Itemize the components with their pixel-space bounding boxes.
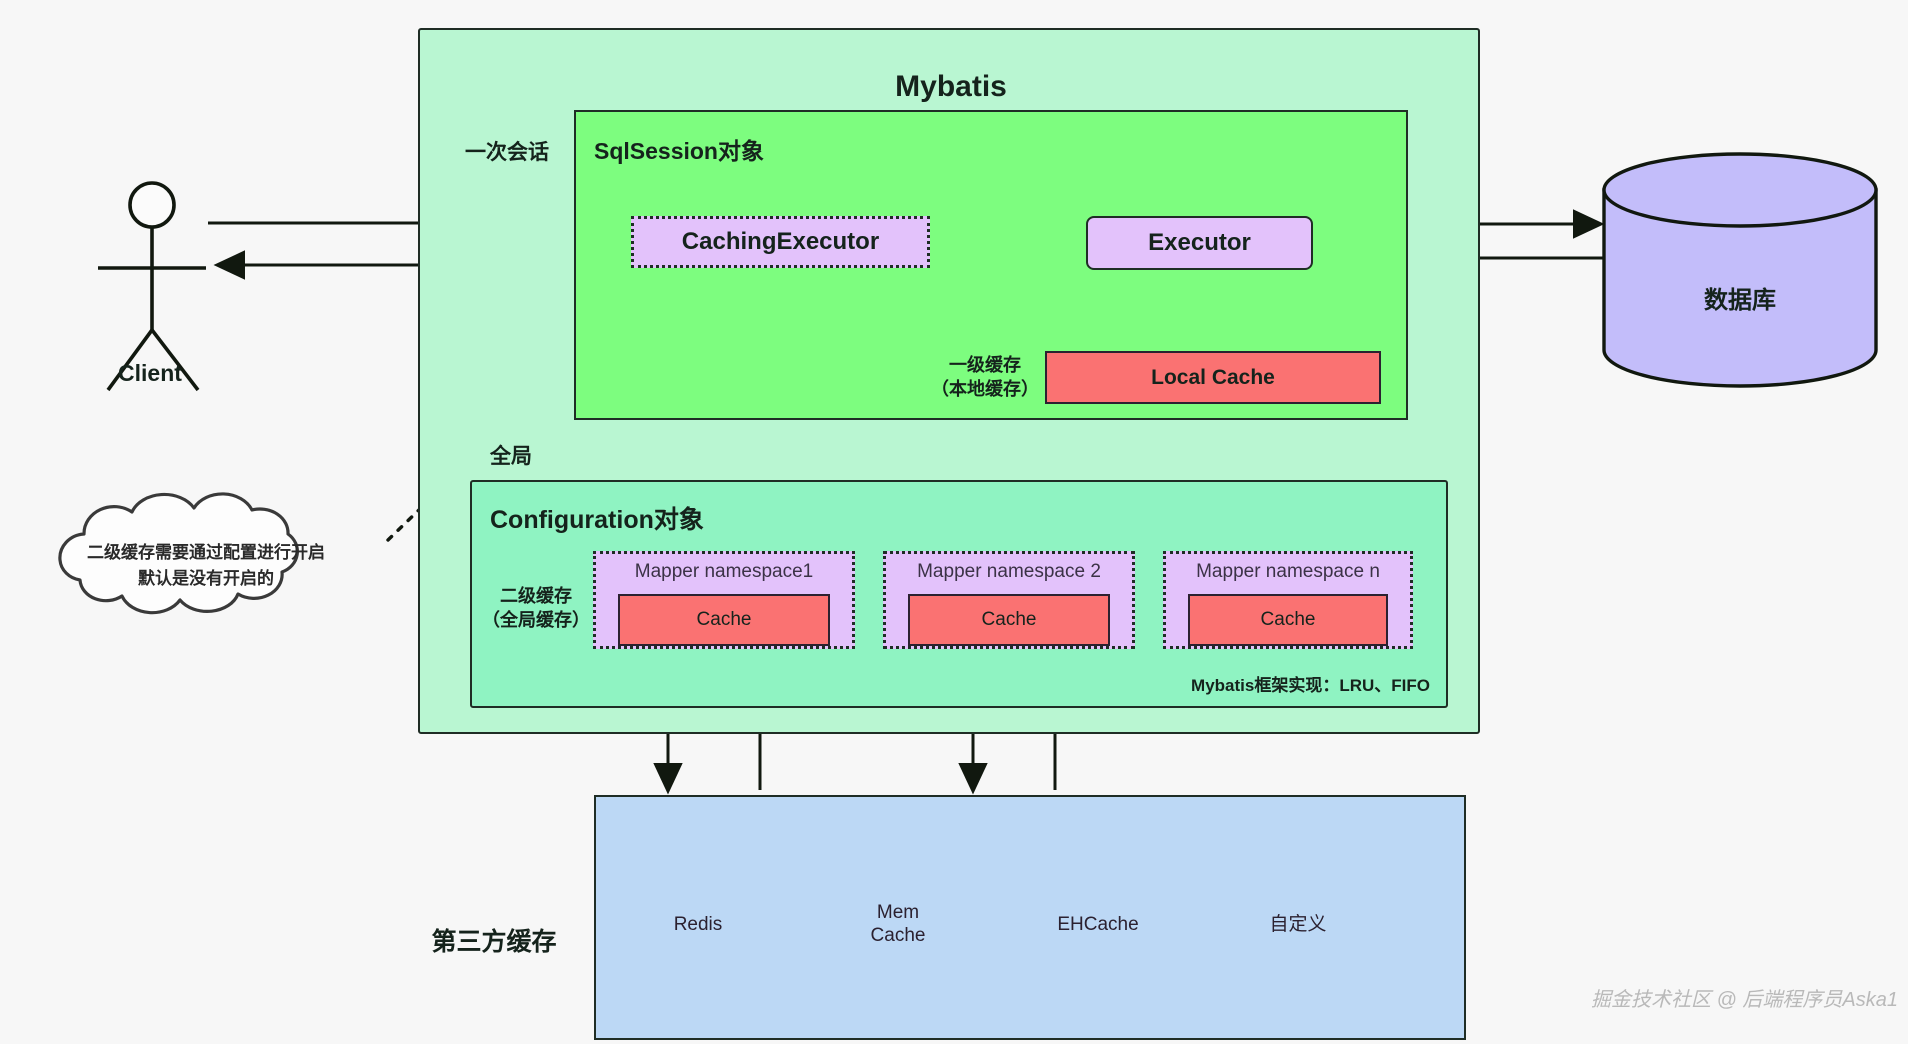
callout-line-2: 默认是没有开启的 — [138, 566, 274, 592]
callout-line-1: 二级缓存需要通过配置进行开启 — [87, 540, 325, 566]
mapper-namespace-2[interactable]: Mapper namespace 2 Cache — [883, 551, 1135, 649]
namespace-title: Mapper namespace1 — [596, 561, 852, 583]
first-level-cache-label-line2: （本地缓存） — [931, 377, 1039, 401]
third-party-item-memcache[interactable]: Mem Cache — [848, 884, 971, 966]
mapper-namespace-1[interactable]: Mapper namespace1 Cache — [593, 551, 855, 649]
diagram-canvas: Mybatis 一次会话 SqlSession对象 CachingExecuto… — [0, 0, 1908, 1044]
third-party-side-label: 第三方缓存 — [404, 920, 584, 960]
first-level-cache-label: 一级缓存 （本地缓存） — [930, 345, 1040, 409]
page-title: Mybatis — [420, 70, 1482, 104]
third-party-item-label: Redis — [648, 884, 748, 966]
second-level-cache-label-line2: （全局缓存） — [482, 608, 590, 632]
callout-text: 二级缓存需要通过配置进行开启 默认是没有开启的 — [36, 533, 376, 599]
second-level-cache-label: 二级缓存 （全局缓存） — [482, 576, 590, 640]
database-label: 数据库 — [1640, 280, 1840, 314]
watermark: 掘金技术社区 @ 后端程序员Aska1 — [1478, 980, 1898, 1014]
third-party-item-label: EHCache — [1048, 884, 1148, 966]
third-party-item-redis[interactable]: Redis — [648, 884, 771, 966]
namespace-cache[interactable]: Cache — [1188, 594, 1388, 646]
database-cylinder — [1604, 154, 1876, 386]
first-level-cache-label-line1: 一级缓存 — [949, 353, 1021, 377]
executor-node[interactable]: Executor — [1086, 216, 1313, 270]
namespace-title: Mapper namespace 2 — [886, 561, 1132, 583]
second-level-cache-label-line1: 二级缓存 — [500, 584, 572, 608]
client-label: Client — [90, 358, 210, 388]
local-cache-node[interactable]: Local Cache — [1045, 351, 1381, 404]
session-side-label: 一次会话 — [448, 135, 566, 167]
third-party-item-label: Mem Cache — [848, 884, 948, 966]
third-party-item-custom[interactable]: 自定义 — [1248, 884, 1371, 966]
mapper-namespace-n[interactable]: Mapper namespace n Cache — [1163, 551, 1413, 649]
caching-executor-node[interactable]: CachingExecutor — [631, 216, 930, 268]
configuration-side-label: 全局 — [490, 440, 570, 470]
sqlsession-title: SqlSession对象 — [594, 132, 764, 166]
namespace-title: Mapper namespace n — [1166, 561, 1410, 583]
namespace-cache[interactable]: Cache — [618, 594, 830, 646]
namespace-cache[interactable]: Cache — [908, 594, 1110, 646]
third-party-item-ehcache[interactable]: EHCache — [1048, 884, 1171, 966]
third-party-item-label: 自定义 — [1248, 884, 1348, 966]
configuration-title: Configuration对象 — [490, 500, 704, 536]
framework-impl-note: Mybatis框架实现：LRU、FIFO — [1191, 671, 1430, 696]
